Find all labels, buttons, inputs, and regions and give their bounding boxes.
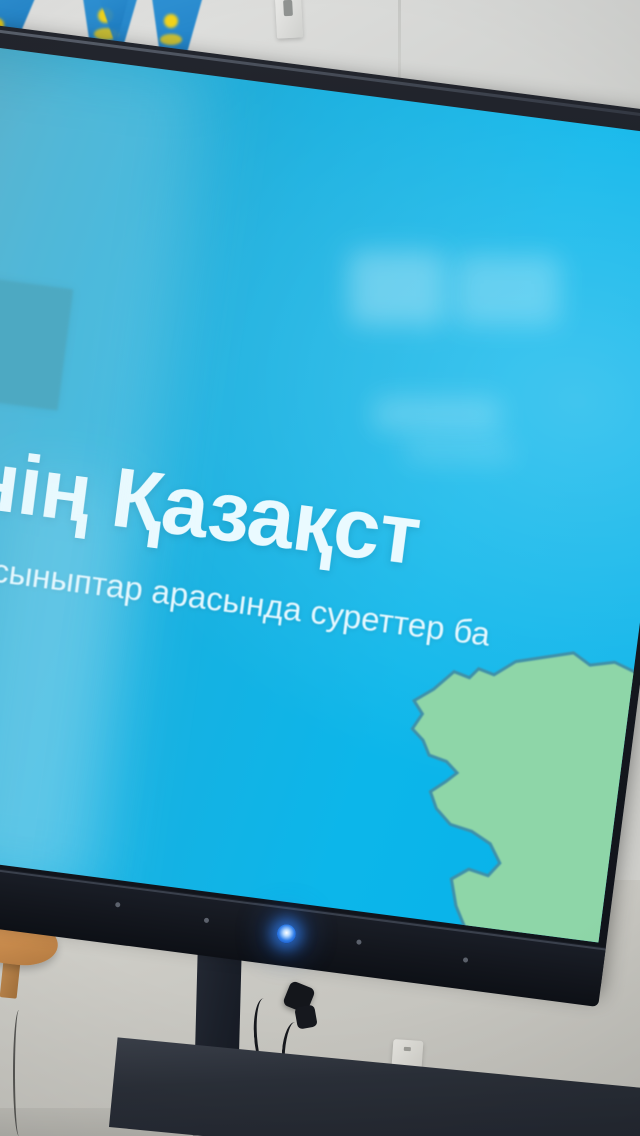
panel-screen[interactable]: Менің Қазақст 4-сыныптар арасында суретт… bbox=[0, 41, 640, 942]
kazakhstan-map-image bbox=[339, 622, 640, 943]
interactive-flat-panel[interactable]: Менің Қазақст 4-сыныптар арасында суретт… bbox=[0, 18, 640, 1070]
ir-sensor bbox=[115, 902, 121, 908]
ceiling-light-reflection bbox=[349, 251, 446, 326]
ceiling-light-reflection bbox=[455, 255, 559, 326]
light-switch[interactable] bbox=[275, 0, 303, 39]
classroom-photo-scene: Менің Қазақст 4-сыныптар арасында суретт… bbox=[0, 0, 640, 1136]
ceiling-light-reflection bbox=[373, 397, 501, 432]
power-indicator[interactable] bbox=[276, 923, 297, 944]
ir-sensor bbox=[463, 957, 469, 963]
ceiling-light-reflection bbox=[403, 440, 513, 463]
power-cable bbox=[13, 1010, 25, 1136]
ir-sensor bbox=[204, 918, 210, 924]
ir-sensor bbox=[356, 939, 362, 945]
